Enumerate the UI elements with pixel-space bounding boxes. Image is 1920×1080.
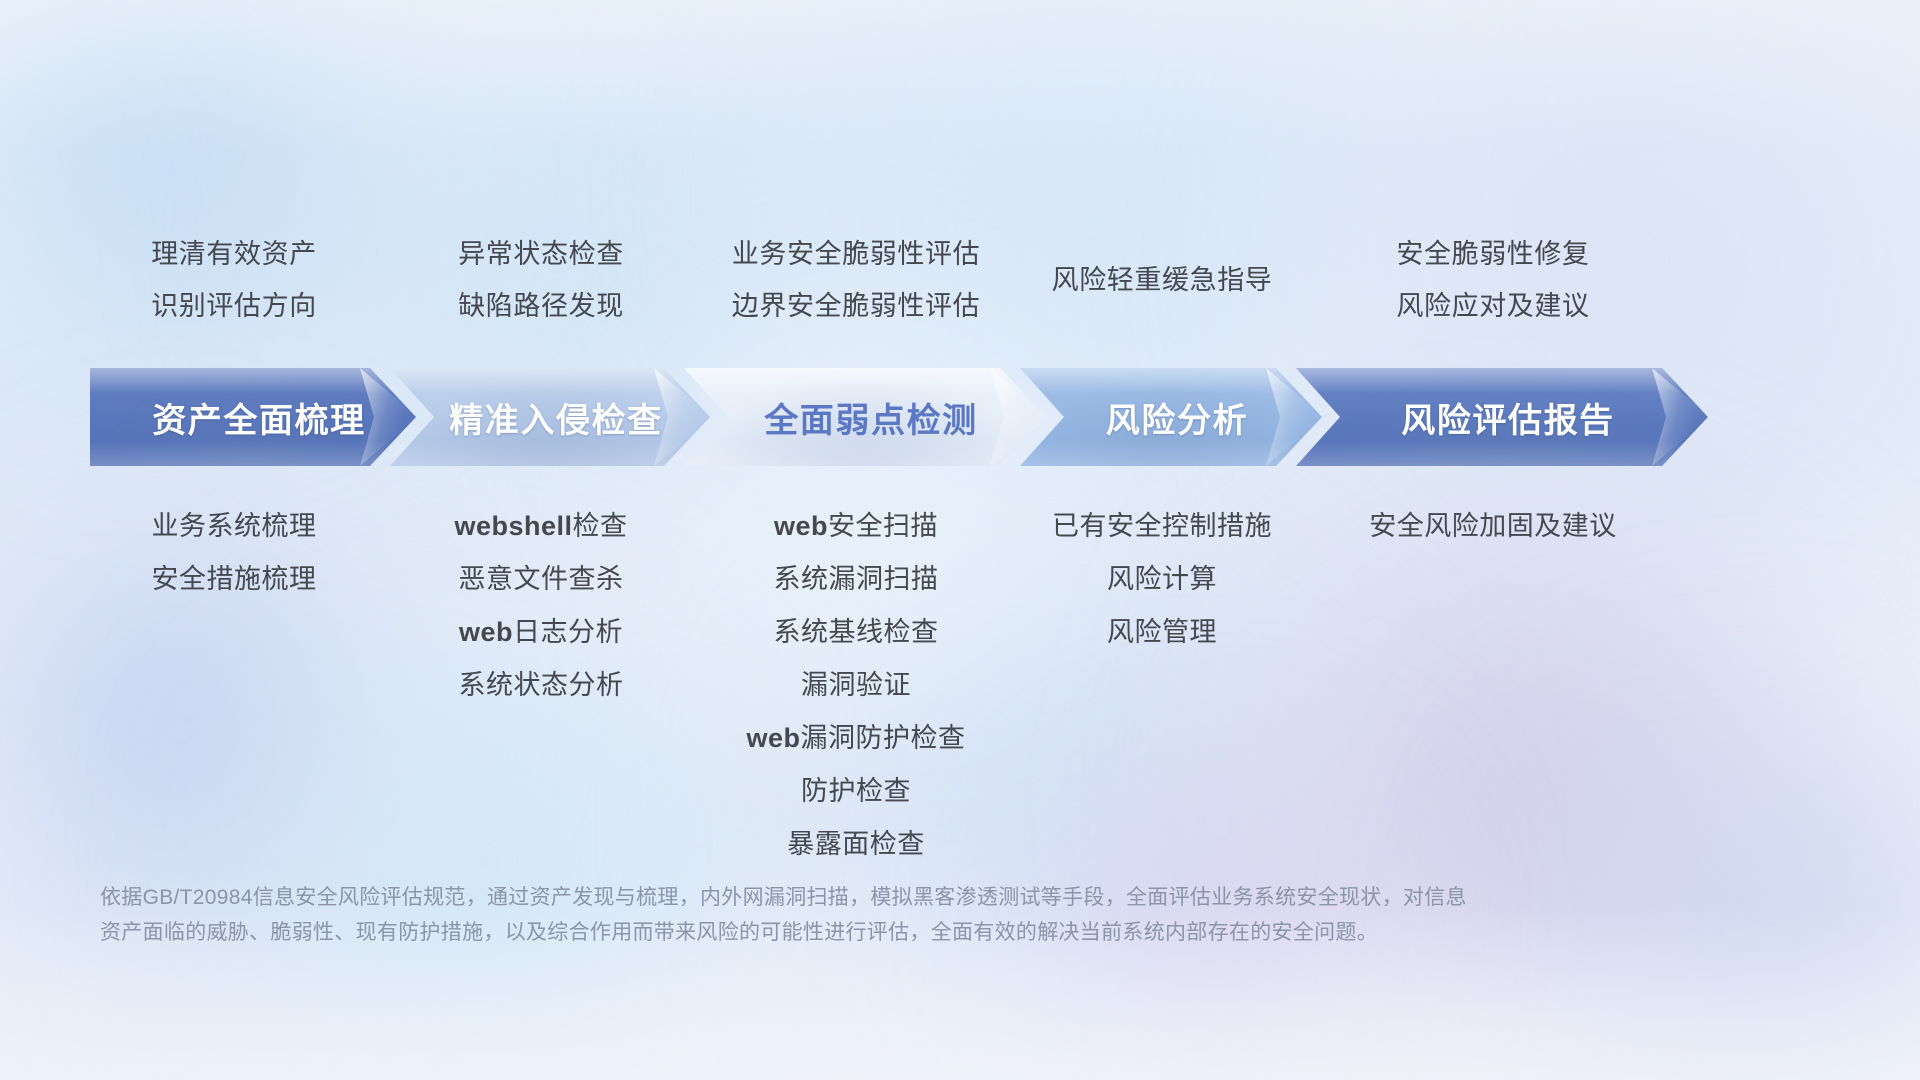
stage-activity-item: 漏洞验证 xyxy=(746,659,965,712)
stage-activity-item: web安全扫描 xyxy=(746,500,965,553)
activity-latin-token: webshell xyxy=(454,511,572,541)
activity-latin-token: web xyxy=(746,723,800,753)
stage-inputs-assessment-report: 安全脆弱性修复风险应对及建议 xyxy=(1396,228,1589,332)
stage-activity-item: 系统状态分析 xyxy=(454,659,627,712)
stage-activity-item: 风险计算 xyxy=(1052,553,1272,606)
stage-inputs-intrusion-check: 异常状态检查缺陷路径发现 xyxy=(458,228,624,332)
stage-input-item: 业务安全脆弱性评估 xyxy=(732,228,980,280)
stage-activity-item: 安全措施梳理 xyxy=(152,553,317,606)
stage-activity-item: web日志分析 xyxy=(454,606,627,659)
stage-chevron-intrusion-check[interactable]: 精准入侵检查 xyxy=(390,368,710,466)
stage-inputs-weakness-detection: 业务安全脆弱性评估边界安全脆弱性评估 xyxy=(732,228,980,332)
activity-latin-token: web xyxy=(459,617,513,647)
stage-activity-item: 系统漏洞扫描 xyxy=(746,553,965,606)
process-flow-diagram: 理清有效资产识别评估方向异常状态检查缺陷路径发现业务安全脆弱性评估边界安全脆弱性… xyxy=(0,0,1920,1080)
stage-chevron-asset-inventory[interactable]: 资产全面梳理 xyxy=(90,368,416,466)
stage-activities-intrusion-check: webshell检查恶意文件查杀web日志分析系统状态分析 xyxy=(454,500,627,712)
stage-activity-item: webshell检查 xyxy=(454,500,627,553)
stage-activities-assessment-report: 安全风险加固及建议 xyxy=(1369,500,1617,553)
footer-line-1: 依据GB/T20984信息安全风险评估规范，通过资产发现与梳理，内外网漏洞扫描，… xyxy=(100,880,1620,915)
stage-activity-item: 业务系统梳理 xyxy=(152,500,317,553)
stage-inputs-risk-analysis: 风险轻重缓急指导 xyxy=(1052,254,1273,306)
activity-latin-token: web xyxy=(774,511,828,541)
stage-activity-item: 安全风险加固及建议 xyxy=(1369,500,1617,553)
stage-activity-item: 防护检查 xyxy=(746,765,965,818)
stage-activities-asset-inventory: 业务系统梳理安全措施梳理 xyxy=(152,500,317,606)
stage-title-intrusion-check: 精准入侵检查 xyxy=(437,393,663,442)
stage-input-item: 异常状态检查 xyxy=(458,228,624,280)
stage-input-item: 风险轻重缓急指导 xyxy=(1052,254,1273,306)
stage-inputs-asset-inventory: 理清有效资产识别评估方向 xyxy=(151,228,317,332)
stage-input-item: 缺陷路径发现 xyxy=(458,280,624,332)
stage-activity-item: 暴露面检查 xyxy=(746,818,965,871)
stage-activity-item: 已有安全控制措施 xyxy=(1052,500,1272,553)
stage-title-weakness-detection: 全面弱点检测 xyxy=(752,393,978,442)
stage-title-assessment-report: 风险评估报告 xyxy=(1389,393,1615,442)
stage-chevron-weakness-detection[interactable]: 全面弱点检测 xyxy=(684,368,1046,466)
stage-input-item: 安全脆弱性修复 xyxy=(1396,228,1589,280)
stage-chevron-assessment-report[interactable]: 风险评估报告 xyxy=(1296,368,1708,466)
stage-chevron-band: 资产全面梳理精准入侵检查全面弱点检测风险分析风险评估报告 xyxy=(90,368,1838,466)
stage-input-item: 理清有效资产 xyxy=(151,228,317,280)
stage-activities-risk-analysis: 已有安全控制措施风险计算风险管理 xyxy=(1052,500,1272,659)
footer-line-2: 资产面临的威胁、脆弱性、现有防护措施，以及综合作用而带来风险的可能性进行评估，全… xyxy=(100,915,1620,950)
description-footer: 依据GB/T20984信息安全风险评估规范，通过资产发现与梳理，内外网漏洞扫描，… xyxy=(100,880,1620,950)
stage-activity-item: 风险管理 xyxy=(1052,606,1272,659)
stage-input-item: 识别评估方向 xyxy=(151,280,317,332)
stage-input-item: 边界安全脆弱性评估 xyxy=(732,280,980,332)
stage-activity-item: 恶意文件查杀 xyxy=(454,553,627,606)
stage-input-item: 风险应对及建议 xyxy=(1396,280,1589,332)
stage-activities-weakness-detection: web安全扫描系统漏洞扫描系统基线检查漏洞验证web漏洞防护检查防护检查暴露面检… xyxy=(746,500,965,871)
stage-chevron-risk-analysis[interactable]: 风险分析 xyxy=(1020,368,1322,466)
stage-activity-item: 系统基线检查 xyxy=(746,606,965,659)
stage-title-asset-inventory: 资产全面梳理 xyxy=(140,393,366,442)
stage-title-risk-analysis: 风险分析 xyxy=(1094,393,1248,442)
stage-activity-item: web漏洞防护检查 xyxy=(746,712,965,765)
